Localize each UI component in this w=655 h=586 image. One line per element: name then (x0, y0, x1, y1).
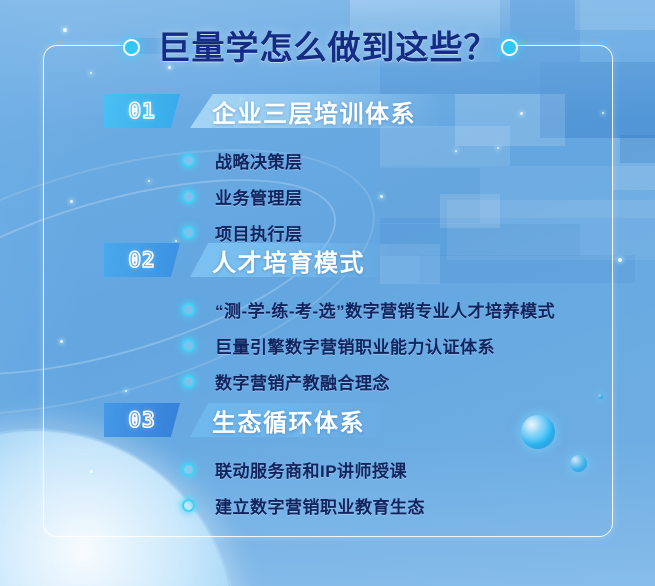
sparkle (70, 200, 73, 203)
bullet-dot-icon (182, 303, 195, 316)
section-02-heading: 人才培育模式 (212, 243, 365, 278)
list-item: 巨量引擎数字营销职业能力认证体系 (182, 327, 555, 363)
list-item-label: “测-学-练-考-选”数字营销专业人才培养模式 (215, 297, 555, 322)
section-02-number: 02 (128, 248, 155, 272)
section-01-title-banner: 企业三层培训体系 (190, 94, 442, 128)
bullet-dot-icon (182, 499, 195, 512)
list-item: “测-学-练-考-选”数字营销专业人才培养模式 (182, 291, 555, 327)
bullet-dot-icon (182, 339, 195, 352)
list-item-label: 联动服务商和IP讲师授课 (215, 457, 407, 482)
list-item-label: 战略决策层 (215, 148, 303, 173)
bullet-dot-icon (182, 463, 195, 476)
list-item: 建立数字营销职业教育生态 (182, 487, 425, 523)
page-title-row: 巨量学怎么做到这些？ (0, 22, 655, 68)
list-item: 联动服务商和IP讲师授课 (182, 451, 425, 487)
sparkle (90, 72, 92, 74)
frame-node-left-icon (123, 39, 140, 56)
sparkle (497, 147, 499, 149)
section-01-heading: 企业三层培训体系 (212, 94, 416, 129)
sparkle (455, 150, 457, 152)
page-title: 巨量学怎么做到这些？ (142, 21, 514, 69)
bg-block (455, 94, 565, 146)
section-01: 01 企业三层培训体系 战略决策层 业务管理层 项目执行层 (104, 94, 442, 250)
section-03-heading: 生态循环体系 (212, 403, 365, 438)
poster-root: 巨量学怎么做到这些？ 01 企业三层培训体系 战略决策层 业务管理层 项目执行层 (0, 0, 655, 586)
section-02-title-banner: 人才培育模式 (190, 243, 391, 277)
bullet-dot-icon (182, 375, 195, 388)
section-02-bullet-list: “测-学-练-考-选”数字营销专业人才培养模式 巨量引擎数字营销职业能力认证体系… (104, 291, 555, 399)
section-02-number-badge: 02 (104, 243, 180, 277)
section-03-header: 03 生态循环体系 (104, 403, 425, 437)
list-item: 业务管理层 (182, 178, 442, 214)
section-03-title-banner: 生态循环体系 (190, 403, 391, 437)
sparkle (618, 258, 622, 262)
bg-block (440, 194, 500, 228)
list-item-label: 建立数字营销职业教育生态 (215, 493, 425, 518)
list-item-label: 巨量引擎数字营销职业能力认证体系 (215, 333, 495, 358)
section-03-bullet-list: 联动服务商和IP讲师授课 建立数字营销职业教育生态 (104, 451, 425, 523)
bullet-dot-icon (182, 226, 195, 239)
bg-block (612, 138, 655, 190)
list-item: 战略决策层 (182, 142, 442, 178)
section-02-header: 02 人才培育模式 (104, 243, 555, 277)
list-item: 数字营销产教融合理念 (182, 363, 555, 399)
frame-node-right-icon (501, 39, 518, 56)
bullet-dot-icon (182, 190, 195, 203)
section-01-number-badge: 01 (104, 94, 180, 128)
sparkle (90, 470, 93, 473)
sparkle (602, 112, 604, 114)
sparkle (520, 112, 523, 115)
list-item-label: 数字营销产教融合理念 (215, 369, 390, 394)
bubble-tiny (598, 394, 603, 399)
section-01-number: 01 (128, 99, 155, 123)
section-02: 02 人才培育模式 “测-学-练-考-选”数字营销专业人才培养模式 巨量引擎数字… (104, 243, 555, 399)
bg-block (540, 62, 655, 138)
bubble-large (521, 415, 555, 449)
section-01-bullet-list: 战略决策层 业务管理层 项目执行层 (104, 142, 442, 250)
section-03: 03 生态循环体系 联动服务商和IP讲师授课 建立数字营销职业教育生态 (104, 403, 425, 523)
list-item-label: 项目执行层 (215, 220, 303, 245)
bullet-dot-icon (182, 154, 195, 167)
section-03-number-badge: 03 (104, 403, 180, 437)
bubble-small (570, 455, 587, 472)
section-03-number: 03 (128, 408, 155, 432)
list-item-label: 业务管理层 (215, 184, 303, 209)
sparkle (60, 340, 63, 343)
section-01-header: 01 企业三层培训体系 (104, 94, 442, 128)
bg-block (620, 135, 655, 163)
